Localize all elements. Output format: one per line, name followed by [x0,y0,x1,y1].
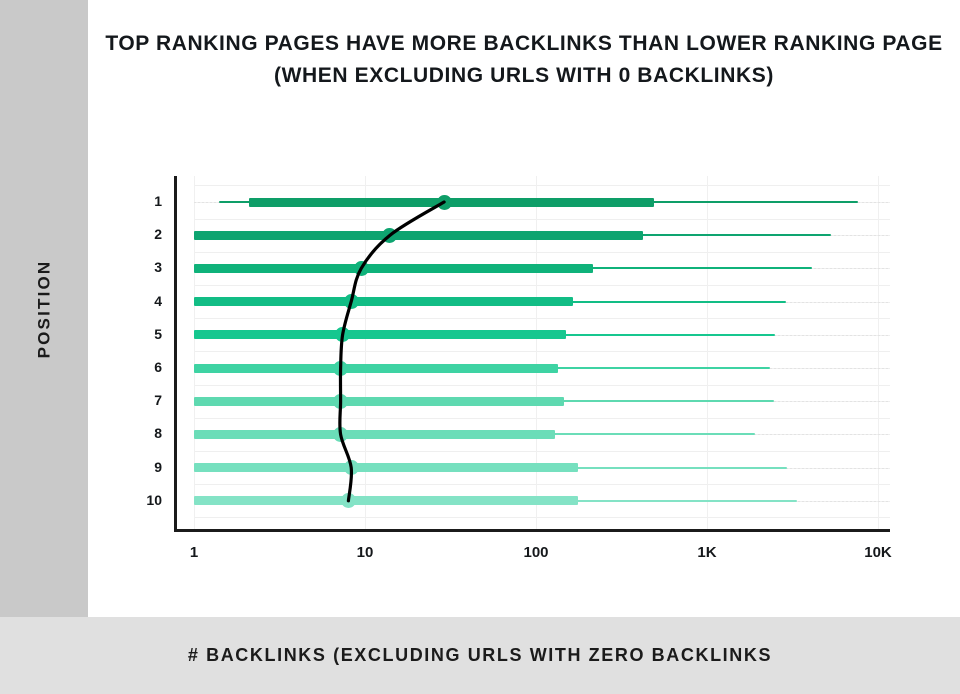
x-tick-label: 10 [335,544,395,561]
y-tick-label: 1 [122,193,162,209]
x-tick-label: 10K [848,544,908,561]
x-tick-label: 1K [677,544,737,561]
y-tick-label: 3 [122,259,162,275]
y-tick-label: 7 [122,392,162,408]
median-trend-line [174,176,890,530]
y-tick-label: 9 [122,459,162,475]
y-tick-label: 10 [122,492,162,508]
y-axis-spine [174,176,177,532]
y-tick-label: 8 [122,425,162,441]
y-axis-title: POSITION [0,0,88,617]
x-tick-label: 1 [164,544,224,561]
page-title: TOP RANKING PAGES HAVE MORE BACKLINKS TH… [88,28,960,92]
y-tick-label: 4 [122,293,162,309]
y-axis-title-label: POSITION [34,259,54,358]
y-tick-label: 5 [122,326,162,342]
median-trend-path [340,202,444,501]
chart-plot-area: 12345678910 1101001K10K [174,176,890,530]
x-axis-spine [174,529,890,532]
y-tick-label: 6 [122,359,162,375]
y-tick-label: 2 [122,226,162,242]
x-axis-caption: # BACKLINKS (EXCLUDING URLS WITH ZERO BA… [0,617,960,694]
x-tick-label: 100 [506,544,566,561]
